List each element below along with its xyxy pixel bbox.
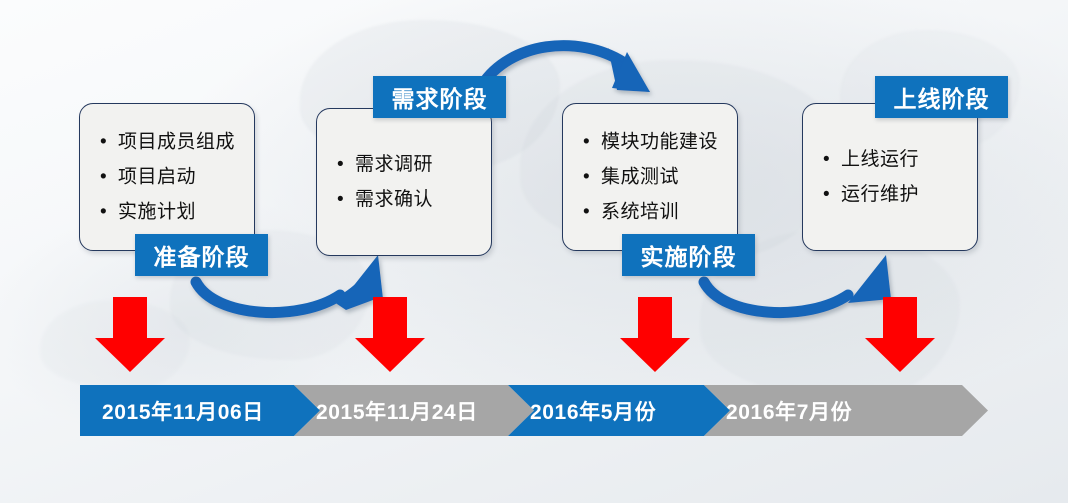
timeline-segment-1[interactable]: 2015年11月06日 [80, 385, 320, 436]
phase-box-4[interactable]: • 上线运行 • 运行维护 [802, 103, 978, 251]
world-map-watermark [40, 300, 190, 390]
list-item: • 模块功能建设 [583, 133, 727, 152]
bullet-text: 需求确认 [355, 190, 433, 209]
list-item: • 系统培训 [583, 203, 727, 222]
phase-2-bullet-list: • 需求调研 • 需求确认 [337, 155, 481, 209]
list-item: • 集成测试 [583, 168, 727, 187]
timeline-date-2: 2015年11月24日 [294, 396, 478, 426]
down-arrow-3 [620, 297, 690, 372]
phase-label-implement[interactable]: 实施阶段 [622, 234, 755, 276]
bullet-icon: • [823, 150, 841, 169]
phase-1-bullet-list: • 项目成员组成 • 项目启动 • 实施计划 [100, 133, 244, 222]
down-arrow-1 [95, 297, 165, 372]
down-arrow-2 [355, 297, 425, 372]
bullet-text: 项目成员组成 [118, 133, 235, 152]
timeline-segment-2[interactable]: 2015年11月24日 [294, 385, 534, 436]
bullet-text: 项目启动 [118, 168, 196, 187]
phase-box-1[interactable]: • 项目成员组成 • 项目启动 • 实施计划 [79, 103, 255, 251]
list-item: • 需求确认 [337, 190, 481, 209]
phase-4-bullet-list: • 上线运行 • 运行维护 [823, 150, 967, 204]
bullet-icon: • [583, 203, 601, 222]
bullet-icon: • [100, 168, 118, 187]
list-item: • 实施计划 [100, 203, 244, 222]
bullet-text: 运行维护 [841, 185, 919, 204]
phase-3-bullet-list: • 模块功能建设 • 集成测试 • 系统培训 [583, 133, 727, 222]
list-item: • 上线运行 [823, 150, 967, 169]
list-item: • 需求调研 [337, 155, 481, 174]
bullet-icon: • [337, 155, 355, 174]
down-arrow-4 [865, 297, 935, 372]
list-item: • 项目启动 [100, 168, 244, 187]
bullet-icon: • [583, 133, 601, 152]
arrow-requirement-to-implement [482, 46, 650, 92]
list-item: • 项目成员组成 [100, 133, 244, 152]
timeline-date-1: 2015年11月06日 [80, 396, 264, 426]
bullet-text: 系统培训 [601, 203, 679, 222]
bullet-icon: • [100, 133, 118, 152]
timeline-segment-3[interactable]: 2016年5月份 [508, 385, 730, 436]
bullet-text: 集成测试 [601, 168, 679, 187]
list-item: • 运行维护 [823, 185, 967, 204]
timeline-segment-4[interactable]: 2016年7月份 [704, 385, 988, 436]
bullet-icon: • [823, 185, 841, 204]
bullet-icon: • [337, 190, 355, 209]
bullet-text: 上线运行 [841, 150, 919, 169]
bullet-text: 需求调研 [355, 155, 433, 174]
phase-label-requirement[interactable]: 需求阶段 [373, 76, 506, 118]
phase-box-3[interactable]: • 模块功能建设 • 集成测试 • 系统培训 [562, 103, 738, 251]
slide-canvas: • 项目成员组成 • 项目启动 • 实施计划 准备阶段 • 需求调研 • 需求确… [0, 0, 1068, 503]
bullet-text: 实施计划 [118, 203, 196, 222]
bullet-text: 模块功能建设 [601, 133, 718, 152]
bullet-icon: • [100, 203, 118, 222]
timeline-bar: 2015年11月06日 2015年11月24日 2016年5月份 2016年7月… [80, 385, 988, 436]
phase-box-2[interactable]: • 需求调研 • 需求确认 [316, 108, 492, 256]
phase-label-launch[interactable]: 上线阶段 [875, 76, 1008, 118]
bullet-icon: • [583, 168, 601, 187]
phase-label-prepare[interactable]: 准备阶段 [135, 234, 268, 276]
